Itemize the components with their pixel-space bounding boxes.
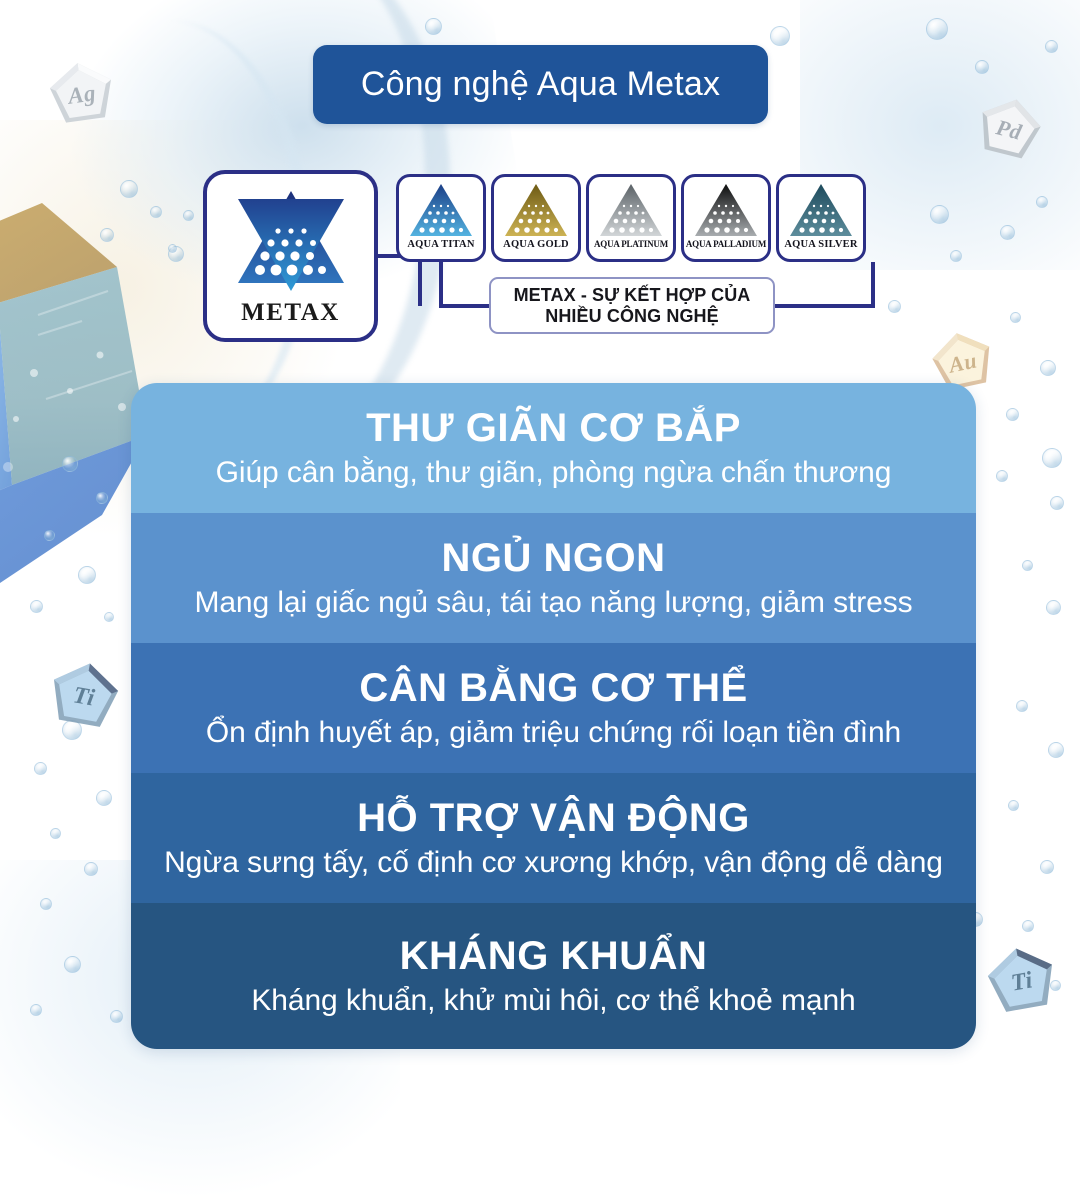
water-droplet — [1048, 742, 1064, 758]
palladium-element-badge: Pd — [968, 89, 1050, 171]
aqua-palladium-triangle-icon — [693, 182, 759, 238]
water-droplet — [50, 828, 61, 839]
water-droplet — [1046, 600, 1061, 615]
technology-label: AQUA TITAN — [407, 239, 474, 250]
benefit-title: NGỦ NGON — [442, 537, 666, 580]
ti-symbol-label: Ti — [979, 939, 1065, 1025]
technology-label: AQUA SILVER — [784, 239, 857, 250]
technology-card-4[interactable]: AQUA PALLADIUM — [681, 174, 771, 262]
titanium-element-badge-left: Ti — [41, 654, 127, 740]
water-droplet — [1022, 560, 1033, 571]
benefit-title: KHÁNG KHUẨN — [400, 935, 708, 978]
technology-card-1[interactable]: AQUA TITAN — [396, 174, 486, 262]
water-droplet — [110, 1010, 123, 1023]
benefit-panel-1: THƯ GIÃN CƠ BẮP Giúp cân bằng, thư giãn,… — [131, 383, 976, 513]
water-droplet — [1006, 408, 1019, 421]
pd-symbol-label: Pd — [968, 89, 1050, 171]
water-droplet — [96, 790, 112, 806]
technology-label: AQUA GOLD — [503, 239, 569, 250]
metax-logo-label: METAX — [241, 299, 340, 327]
water-droplet — [1040, 360, 1056, 376]
benefit-title: THƯ GIÃN CƠ BẮP — [366, 407, 741, 450]
water-droplet — [1050, 496, 1064, 510]
technology-label: AQUA PALLADIUM — [686, 239, 766, 249]
water-droplet — [425, 18, 442, 35]
water-droplet — [1040, 860, 1054, 874]
metax-logo-card[interactable]: METAX — [203, 170, 378, 342]
water-droplet — [104, 612, 114, 622]
water-droplet — [770, 26, 790, 46]
technology-icon-row: AQUA TITAN AQUA GOLD — [396, 174, 866, 262]
water-droplet — [1016, 700, 1028, 712]
water-droplet — [84, 862, 98, 876]
combination-note-line2: NHIỀU CÔNG NGHỆ — [545, 306, 719, 327]
water-droplet — [30, 600, 43, 613]
technology-diagram: METAX AQUA TITAN — [0, 160, 1080, 360]
aqua-platinum-triangle-icon — [598, 182, 664, 238]
water-droplet — [44, 530, 55, 541]
ti-symbol-label: Ti — [41, 654, 127, 740]
water-droplet — [1045, 40, 1058, 53]
water-droplet — [64, 956, 81, 973]
water-droplet — [1008, 800, 1019, 811]
ag-symbol-label: Ag — [42, 55, 121, 134]
benefit-title: CÂN BẰNG CƠ THỂ — [359, 667, 747, 710]
aqua-gold-triangle-icon — [503, 182, 569, 238]
water-droplet — [40, 898, 52, 910]
water-droplet — [926, 18, 948, 40]
aqua-titan-triangle-icon — [408, 182, 474, 238]
page-title: Công nghệ Aqua Metax — [361, 65, 720, 104]
infographic-canvas: Ag Pd Au Ti Ti Công n — [0, 0, 1080, 1080]
water-droplet — [1042, 448, 1062, 468]
benefit-description: Kháng khuẩn, khử mùi hôi, cơ thể khoẻ mạ… — [251, 984, 855, 1018]
water-droplet — [975, 60, 989, 74]
benefit-description: Giúp cân bằng, thư giãn, phòng ngừa chấn… — [216, 456, 892, 490]
combination-note-line1: METAX - SỰ KẾT HỢP CỦA — [514, 285, 751, 306]
benefit-panel-3: CÂN BẰNG CƠ THỂ Ổn định huyết áp, giảm t… — [131, 643, 976, 773]
water-droplet — [34, 762, 47, 775]
benefit-panel-5: KHÁNG KHUẨN Kháng khuẩn, khử mùi hôi, cơ… — [131, 903, 976, 1049]
benefit-description: Ổn định huyết áp, giảm triệu chứng rối l… — [206, 716, 901, 750]
benefits-panel-stack: THƯ GIÃN CƠ BẮP Giúp cân bằng, thư giãn,… — [131, 383, 976, 1049]
water-droplet — [1022, 920, 1034, 932]
aqua-silver-triangle-icon — [788, 182, 854, 238]
benefit-panel-4: HỖ TRỢ VẬN ĐỘNG Ngừa sưng tấy, cố định c… — [131, 773, 976, 903]
technology-label: AQUA PLATINUM — [594, 239, 668, 249]
benefit-title: HỖ TRỢ VẬN ĐỘNG — [357, 797, 750, 840]
technology-card-2[interactable]: AQUA GOLD — [491, 174, 581, 262]
benefit-description: Mang lại giấc ngủ sâu, tái tạo năng lượn… — [194, 586, 912, 620]
silver-element-badge: Ag — [42, 55, 121, 134]
water-droplet — [62, 456, 78, 472]
benefit-panel-2: NGỦ NGON Mang lại giấc ngủ sâu, tái tạo … — [131, 513, 976, 643]
benefit-description: Ngừa sưng tấy, cố định cơ xương khớp, vậ… — [164, 846, 943, 880]
water-droplet — [96, 492, 108, 504]
water-droplet — [78, 566, 96, 584]
metax-star-icon — [230, 185, 352, 297]
technology-card-5[interactable]: AQUA SILVER — [776, 174, 866, 262]
page-title-banner: Công nghệ Aqua Metax — [313, 45, 768, 124]
technology-card-3[interactable]: AQUA PLATINUM — [586, 174, 676, 262]
water-droplet — [996, 470, 1008, 482]
water-droplet — [30, 1004, 42, 1016]
combination-note-card: METAX - SỰ KẾT HỢP CỦA NHIỀU CÔNG NGHỆ — [489, 277, 775, 334]
titanium-element-badge-right: Ti — [979, 939, 1065, 1025]
